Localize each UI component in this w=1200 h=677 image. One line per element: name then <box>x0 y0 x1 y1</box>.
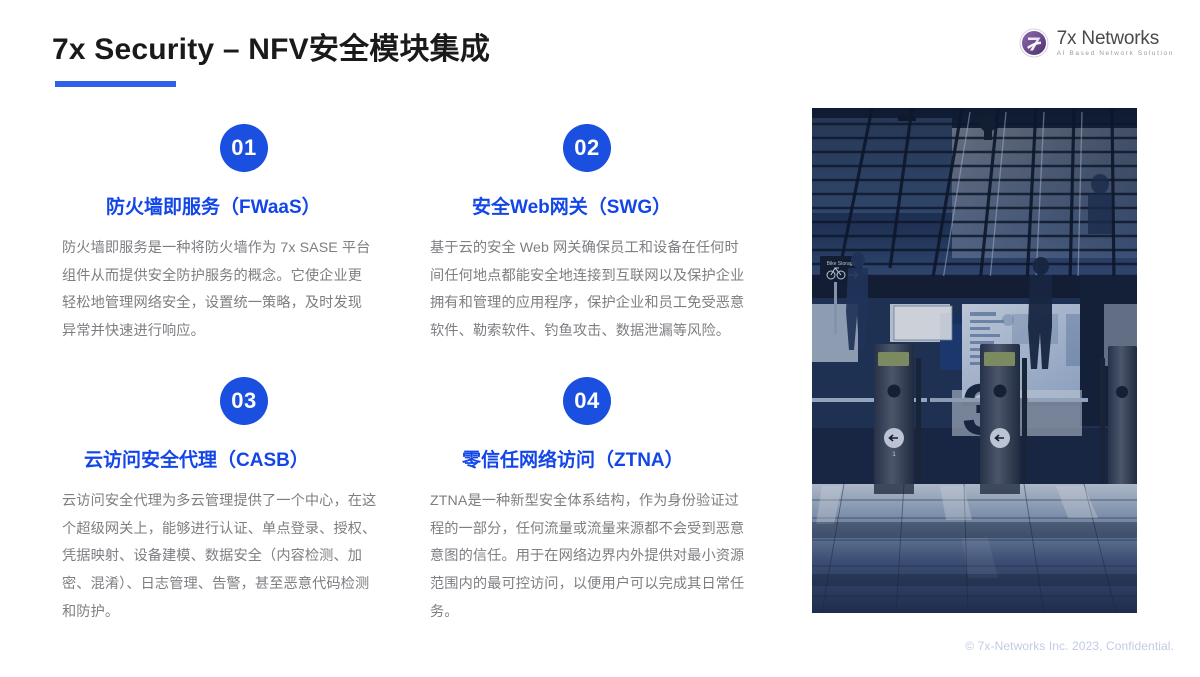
card-title: 零信任网络访问（ZTNA） <box>462 445 760 472</box>
card-body-text: 防火墙即服务是一种将防火墙作为 7x SASE 平台组件从而提供安全防护服务的概… <box>62 235 374 346</box>
page-title: 7x Security – NFV安全模块集成 <box>52 24 490 68</box>
feature-card-02: 02 安全Web网关（SWG） 基于云的安全 Web 网关确保员工和设备在任何时… <box>390 108 760 361</box>
footer-copyright: © 7x-Networks Inc. 2023, Confidential. <box>965 639 1174 653</box>
card-title: 安全Web网关（SWG） <box>472 192 760 219</box>
card-title: 云访问安全代理（CASB） <box>84 445 390 472</box>
feature-card-03: 03 云访问安全代理（CASB） 云访问安全代理为多云管理提供了一个中心，在这个… <box>0 361 390 614</box>
card-title: 防火墙即服务（FWaaS） <box>106 192 390 219</box>
card-body-text: ZTNA是一种新型安全体系结构，作为身份验证过程的一部分，任何流量或流量来源都不… <box>430 488 748 626</box>
station-photo: Bike Storage 5 <box>812 108 1137 613</box>
card-number-badge: 04 <box>563 377 611 425</box>
logo-text-block: 7x Networks AI Based Network Solution <box>1057 29 1174 58</box>
feature-card-01: 01 防火墙即服务（FWaaS） 防火墙即服务是一种将防火墙作为 7x SASE… <box>0 108 390 361</box>
card-body-text: 基于云的安全 Web 网关确保员工和设备在任何时间任何地点都能安全地连接到互联网… <box>430 235 748 346</box>
card-number-badge: 01 <box>220 124 268 172</box>
brand-logo: 7x Networks AI Based Network Solution <box>1018 27 1174 59</box>
7x-swoosh-logo-icon <box>1018 27 1050 59</box>
logo-tagline: AI Based Network Solution <box>1057 50 1174 57</box>
title-underline-rule <box>55 81 176 87</box>
slide-root: 7x Security – NFV安全模块集成 <box>0 0 1200 677</box>
feature-card-04: 04 零信任网络访问（ZTNA） ZTNA是一种新型安全体系结构，作为身份验证过… <box>390 361 760 614</box>
card-body-text: 云访问安全代理为多云管理提供了一个中心，在这个超级网关上，能够进行认证、单点登录… <box>62 488 382 626</box>
logo-company-name: 7x Networks <box>1057 29 1174 49</box>
feature-card-grid: 01 防火墙即服务（FWaaS） 防火墙即服务是一种将防火墙作为 7x SASE… <box>0 108 800 618</box>
card-number-badge: 03 <box>220 377 268 425</box>
card-number-badge: 02 <box>563 124 611 172</box>
